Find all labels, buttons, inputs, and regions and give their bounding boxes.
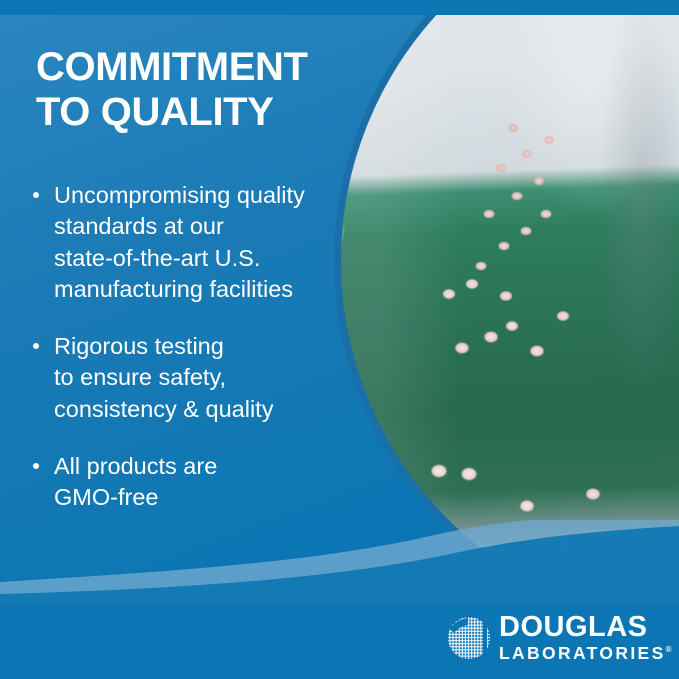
bullet-line: GMO-free xyxy=(54,482,360,513)
bullet-line: All products are xyxy=(54,451,360,482)
headline-line-1: COMMITMENT xyxy=(36,45,308,89)
bullet-dot-icon xyxy=(33,463,39,469)
bullet-dot-icon xyxy=(33,192,39,198)
page-title: COMMITMENT TO QUALITY xyxy=(36,45,356,135)
list-item: Uncompromising quality standards at our … xyxy=(30,180,360,305)
bullet-line: Rigorous testing xyxy=(54,331,360,362)
bullet-line: to ensure safety, xyxy=(54,362,360,393)
douglas-laboratories-logo: DOUGLAS LABORATORIES® xyxy=(447,613,672,663)
text-panel: COMMITMENT TO QUALITY Uncompromising qua… xyxy=(0,0,360,679)
manufacturing-photo xyxy=(341,0,679,626)
logo-wordmark: DOUGLAS LABORATORIES® xyxy=(499,613,672,663)
bullet-dot-icon xyxy=(33,343,39,349)
quality-bullet-list: Uncompromising quality standards at our … xyxy=(30,180,360,539)
bullet-line: consistency & quality xyxy=(54,394,360,425)
headline-line-2: TO QUALITY xyxy=(36,90,356,135)
list-item: All products are GMO-free xyxy=(30,451,360,514)
logo-name-secondary: LABORATORIES® xyxy=(499,645,672,663)
logo-name-secondary-text: LABORATORIES xyxy=(499,643,666,663)
registered-trademark-icon: ® xyxy=(666,645,672,654)
logo-name-primary: DOUGLAS xyxy=(499,613,672,642)
list-item: Rigorous testing to ensure safety, consi… xyxy=(30,331,360,425)
grid-circle-icon xyxy=(447,616,491,660)
bullet-line: manufacturing facilities xyxy=(54,274,360,305)
bullet-line: state-of-the-art U.S. xyxy=(54,243,360,274)
commitment-to-quality-poster: COMMITMENT TO QUALITY Uncompromising qua… xyxy=(0,0,679,679)
bullet-line: Uncompromising quality xyxy=(54,180,360,211)
bullet-line: standards at our xyxy=(54,211,360,242)
manufacturing-photo-image xyxy=(341,0,679,626)
